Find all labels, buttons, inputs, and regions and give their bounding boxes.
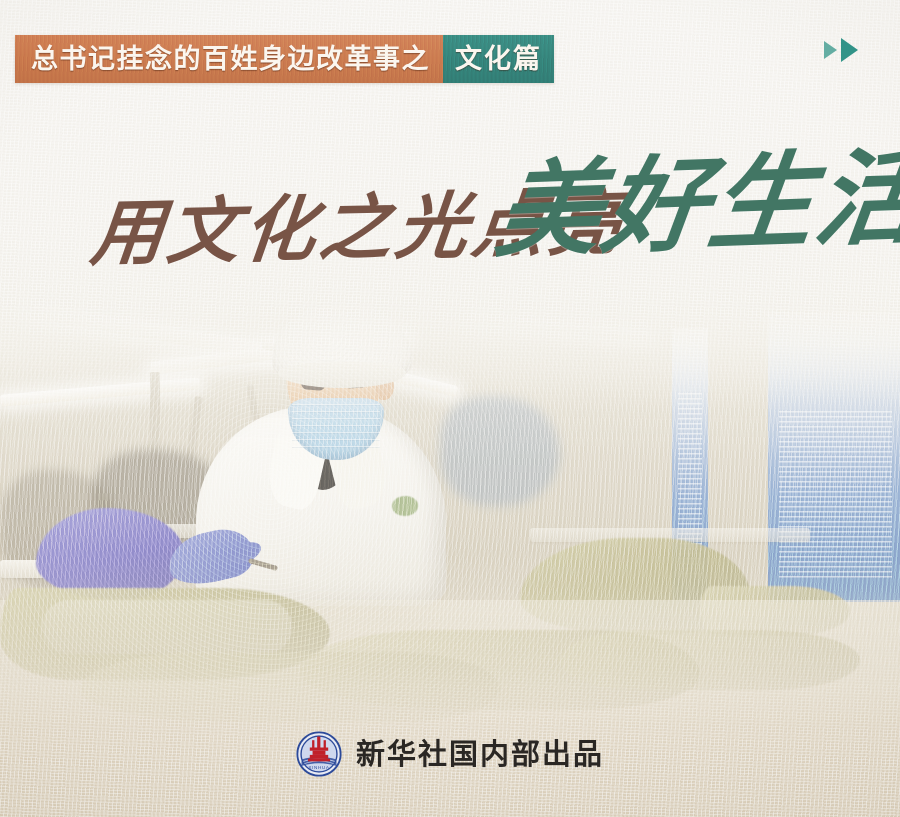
play-triangle-icon-small <box>824 41 837 59</box>
series-banner-teal-band: 文化篇 <box>443 35 554 83</box>
exhibition-panel-wide <box>768 312 900 602</box>
logo-wordmark: XINHUA <box>308 765 330 770</box>
credit-text: 新华社国内部出品 <box>356 740 604 769</box>
xinhua-logo-icon: XINHUA <box>296 731 342 777</box>
photo-scene <box>0 300 900 760</box>
coat-logo-patch <box>392 496 418 516</box>
series-banner-label: 总书记挂念的百姓身边改革事之 <box>31 46 430 73</box>
artifact-foreground-right <box>560 630 860 690</box>
headline-part-green: 美好生活 <box>491 145 900 264</box>
exhibition-panel-text-lines <box>779 411 893 579</box>
artifact-foreground-left <box>80 652 500 722</box>
poster-canvas: 总书记挂念的百姓身边改革事之 文化篇 用文化之光点亮 美好生活 <box>0 0 900 817</box>
background-equipment-blob <box>440 396 560 506</box>
hero-photo <box>0 300 900 760</box>
series-banner-orange-band: 总书记挂念的百姓身边改革事之 <box>15 35 443 83</box>
surgical-mask <box>288 398 384 460</box>
bronze-artifact-left-highlight <box>42 600 292 654</box>
play-triangle-icon-large <box>841 38 858 62</box>
series-banner: 总书记挂念的百姓身边改革事之 文化篇 <box>15 35 554 83</box>
footer-credit: XINHUA 新华社国内部出品 <box>0 730 900 778</box>
headline: 用文化之光点亮 美好生活 <box>0 150 900 310</box>
purple-cloth-bundle <box>36 508 184 600</box>
arrow-group <box>824 38 858 62</box>
chapter-label: 文化篇 <box>455 46 542 73</box>
